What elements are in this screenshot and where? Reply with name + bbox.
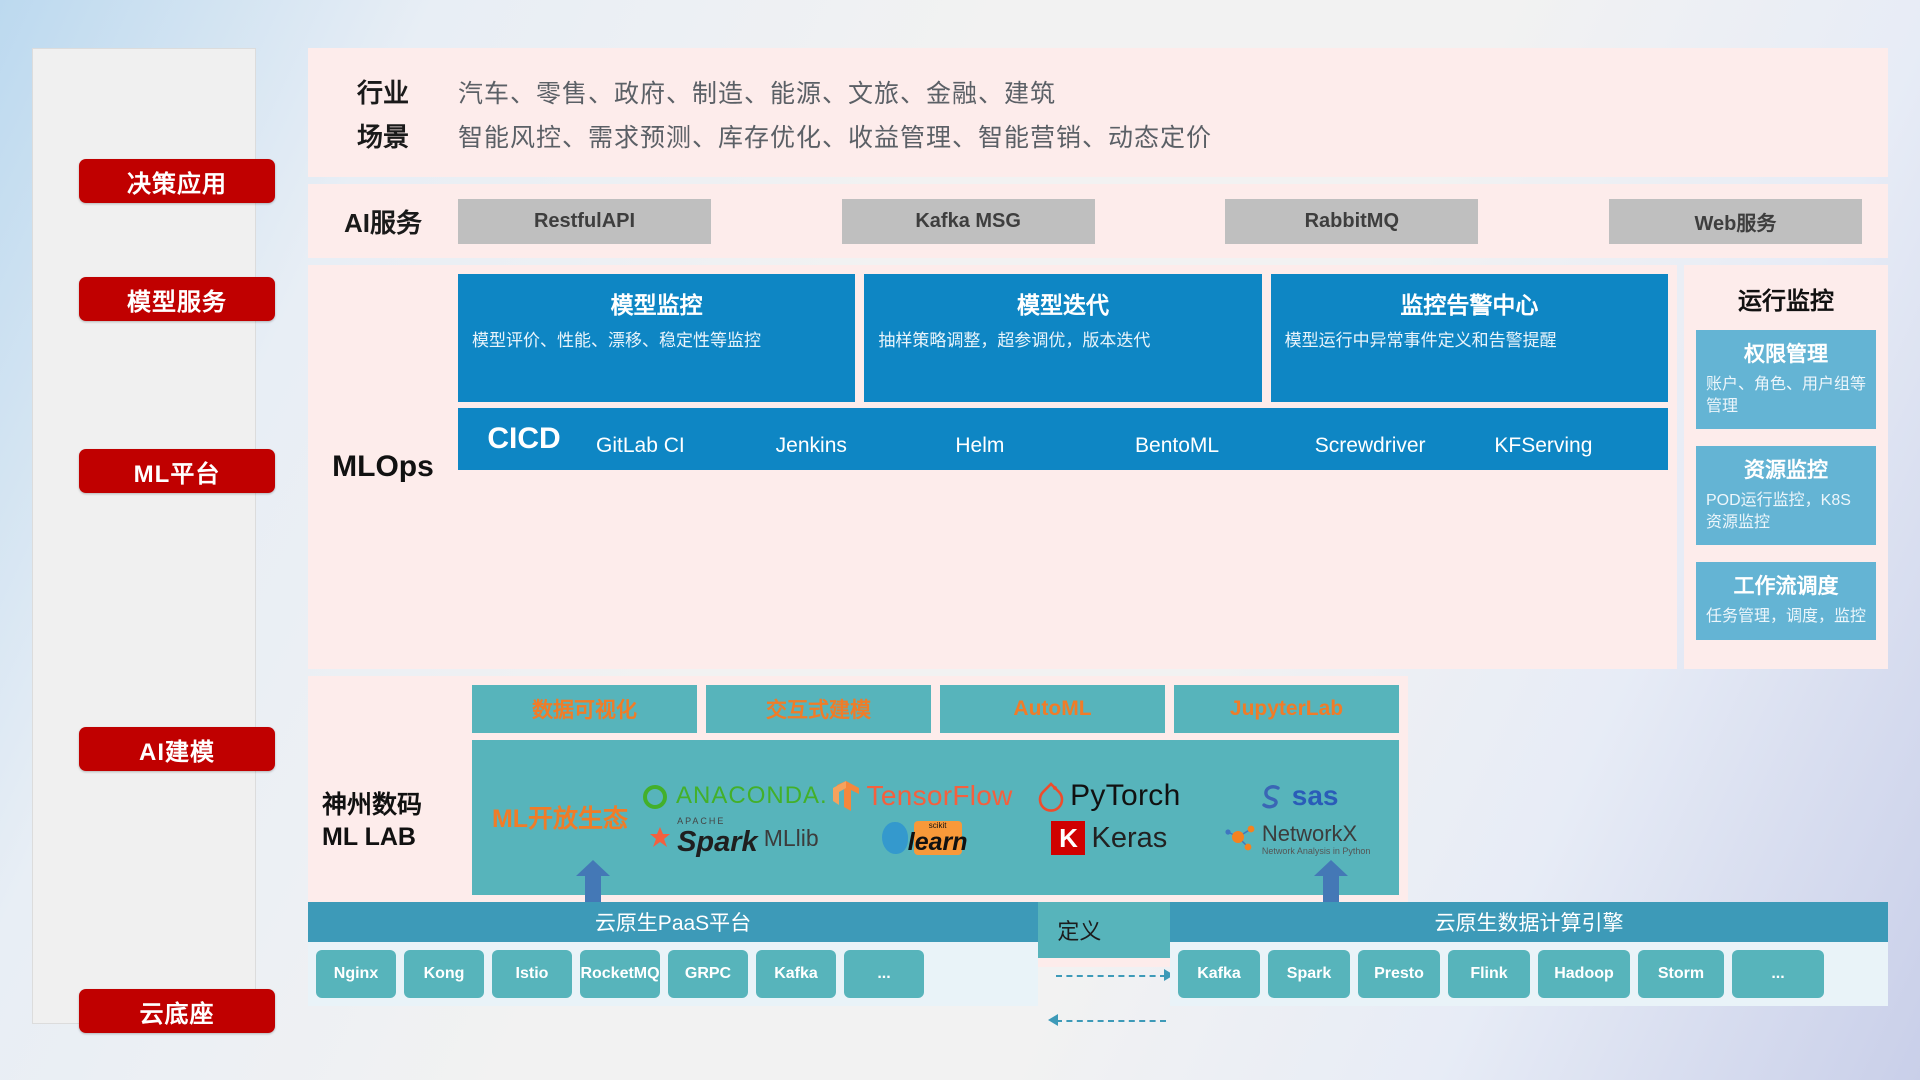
paas-item-nginx[interactable]: Nginx xyxy=(316,950,396,998)
tensorflow-wordmark: TensorFlow xyxy=(867,780,1013,812)
engine-item-more[interactable]: ... xyxy=(1732,950,1824,998)
engine-item-presto[interactable]: Presto xyxy=(1358,950,1440,998)
arrow-up-paas-icon xyxy=(576,860,610,902)
cicd-item-gitlab-ci[interactable]: GitLab CI xyxy=(590,435,770,457)
rail-item-ai-modeling[interactable]: AI建模 xyxy=(79,727,275,771)
ai-service-label: AI服务 xyxy=(308,203,458,240)
keras-k-icon: K xyxy=(1051,821,1085,855)
scikit-learn-logo: scikit learn xyxy=(882,821,962,855)
pytorch-logo: PyTorch xyxy=(1038,779,1180,813)
ops-card-resource[interactable]: 资源监控 POD运行监控，K8S资源监控 xyxy=(1696,446,1876,545)
cicd-item-bentoml[interactable]: BentoML xyxy=(1129,435,1309,457)
anaconda-wordmark: ANACONDA. xyxy=(676,782,828,810)
scenario-label: 场景 xyxy=(308,117,458,154)
sas-mark-icon xyxy=(1256,781,1286,811)
arrow-right-line xyxy=(1056,975,1166,977)
rail-item-model-service[interactable]: 模型服务 xyxy=(79,277,275,321)
scenario-values: 智能风控、需求预测、库存优化、收益管理、智能营销、动态定价 xyxy=(458,118,1212,154)
spark-wordmark: Spark xyxy=(677,826,758,858)
anaconda-logo: ANACONDA. xyxy=(640,781,828,811)
keras-logo: K Keras xyxy=(1051,821,1167,855)
card-title: 监控告警中心 xyxy=(1285,286,1654,320)
card-title: 工作流调度 xyxy=(1706,570,1866,600)
pytorch-flame-icon xyxy=(1038,780,1064,812)
scenario-row: 场景 智能风控、需求预测、库存优化、收益管理、智能营销、动态定价 xyxy=(308,117,1888,154)
paas-item-kafka[interactable]: Kafka xyxy=(756,950,836,998)
engine-item-hadoop[interactable]: Hadoop xyxy=(1538,950,1630,998)
ops-card-workflow[interactable]: 工作流调度 任务管理，调度，监控 xyxy=(1696,562,1876,640)
card-desc: 模型评价、性能、漂移、稳定性等监控 xyxy=(472,329,841,354)
industry-values: 汽车、零售、政府、制造、能源、文旅、金融、建筑 xyxy=(458,74,1056,110)
paas-item-rocketmq[interactable]: RocketMQ xyxy=(580,950,660,998)
paas-item-kong[interactable]: Kong xyxy=(404,950,484,998)
card-desc: 账户、角色、用户组等管理 xyxy=(1706,374,1866,417)
arrow-left-line xyxy=(1056,1020,1166,1022)
rail-item-decision-app[interactable]: 决策应用 xyxy=(79,159,275,203)
cicd-bar: CICD GitLab CI Jenkins Helm BentoML Scre… xyxy=(458,408,1668,470)
ai-service-rabbitmq[interactable]: RabbitMQ xyxy=(1225,199,1478,244)
card-desc: 任务管理，调度，监控 xyxy=(1706,606,1866,628)
architecture-diagram: 决策应用 模型服务 ML平台 AI建模 云底座 行业 汽车、零售、政府、制造、能… xyxy=(0,0,1920,1080)
card-title: 模型迭代 xyxy=(878,286,1247,320)
industry-label: 行业 xyxy=(308,73,458,110)
tool-interactive-modeling[interactable]: 交互式建模 xyxy=(706,685,931,733)
engine-item-kafka[interactable]: Kafka xyxy=(1178,950,1260,998)
ai-service-web[interactable]: Web服务 xyxy=(1609,199,1862,244)
industry-row: 行业 汽车、零售、政府、制造、能源、文旅、金融、建筑 xyxy=(308,73,1888,110)
ops-card-permission[interactable]: 权限管理 账户、角色、用户组等管理 xyxy=(1696,330,1876,429)
data-engine-group: 云原生数据计算引擎 Kafka Spark Presto Flink Hadoo… xyxy=(1170,902,1888,1006)
card-title: 权限管理 xyxy=(1706,338,1866,368)
mllab-label-line2: ML LAB xyxy=(322,821,422,854)
main-stack: 行业 汽车、零售、政府、制造、能源、文旅、金融、建筑 场景 智能风控、需求预测、… xyxy=(308,48,1888,967)
learn-wordmark: learn xyxy=(908,830,968,855)
anaconda-mark-icon xyxy=(640,781,670,811)
arrow-up-data-engine-icon xyxy=(1314,860,1348,902)
data-engine-items: Kafka Spark Presto Flink Hadoop Storm ..… xyxy=(1170,942,1888,1006)
rail-label: 决策应用 xyxy=(127,164,227,199)
cloud-foundation-section: 云原生PaaS平台 Nginx Kong Istio RocketMQ GRPC… xyxy=(308,860,1888,1040)
tool-automl[interactable]: AutoML xyxy=(940,685,1165,733)
rail-label: 云底座 xyxy=(140,994,215,1029)
sas-logo: sas xyxy=(1256,780,1339,812)
mlops-label: MLOps xyxy=(308,274,458,660)
engine-item-flink[interactable]: Flink xyxy=(1448,950,1530,998)
rail-item-ml-platform[interactable]: ML平台 xyxy=(79,449,275,493)
networkx-wordmark-group: NetworkX Network Analysis in Python xyxy=(1262,821,1371,856)
mlops-card-model-monitoring[interactable]: 模型监控 模型评价、性能、漂移、稳定性等监控 xyxy=(458,274,855,402)
rail-label: AI建模 xyxy=(139,732,215,767)
networkx-graph-icon xyxy=(1224,823,1256,853)
mllab-label-line1: 神州数码 xyxy=(322,789,422,822)
keras-wordmark: Keras xyxy=(1091,822,1167,855)
engine-item-storm[interactable]: Storm xyxy=(1638,950,1724,998)
cicd-item-helm[interactable]: Helm xyxy=(949,435,1129,457)
mlops-band: MLOps 模型监控 模型评价、性能、漂移、稳定性等监控 模型迭代 抽样策略调整… xyxy=(308,265,1677,669)
layer-rail: 决策应用 模型服务 ML平台 AI建模 云底座 xyxy=(32,48,256,1024)
mlops-stack: 模型监控 模型评价、性能、漂移、稳定性等监控 模型迭代 抽样策略调整，超参调优，… xyxy=(458,274,1668,660)
paas-items: Nginx Kong Istio RocketMQ GRPC Kafka ... xyxy=(308,942,1038,1006)
card-desc: POD运行监控，K8S资源监控 xyxy=(1706,490,1866,533)
rail-item-cloud-foundation[interactable]: 云底座 xyxy=(79,989,275,1033)
decision-app-band: 行业 汽车、零售、政府、制造、能源、文旅、金融、建筑 场景 智能风控、需求预测、… xyxy=(308,48,1888,177)
card-desc: 模型运行中异常事件定义和告警提醒 xyxy=(1285,329,1654,354)
cicd-label: CICD xyxy=(458,422,590,456)
tool-data-visualization[interactable]: 数据可视化 xyxy=(472,685,697,733)
card-title: 资源监控 xyxy=(1706,454,1866,484)
spark-wordmark-group: APACHE Spark xyxy=(677,817,758,859)
mlops-cards: 模型监控 模型评价、性能、漂移、稳定性等监控 模型迭代 抽样策略调整，超参调优，… xyxy=(458,274,1668,402)
pytorch-wordmark: PyTorch xyxy=(1070,779,1180,813)
ai-service-chips: RestfulAPI Kafka MSG RabbitMQ Web服务 xyxy=(458,199,1888,244)
cicd-items: GitLab CI Jenkins Helm BentoML Screwdriv… xyxy=(590,421,1668,457)
arrow-left-head-icon xyxy=(1048,1014,1058,1026)
apache-wordmark: APACHE xyxy=(677,817,758,826)
ai-service-kafka-msg[interactable]: Kafka MSG xyxy=(842,199,1095,244)
rail-label: ML平台 xyxy=(134,454,221,489)
ml-platform-section: MLOps 模型监控 模型评价、性能、漂移、稳定性等监控 模型迭代 抽样策略调整… xyxy=(308,265,1888,669)
mllib-wordmark: MLlib xyxy=(764,825,819,852)
tensorflow-mark-icon xyxy=(831,779,861,813)
tool-jupyterlab[interactable]: JupyterLab xyxy=(1174,685,1399,733)
ai-service-band: AI服务 RestfulAPI Kafka MSG RabbitMQ Web服务 xyxy=(308,184,1888,258)
paas-item-grpc[interactable]: GRPC xyxy=(668,950,748,998)
engine-item-spark[interactable]: Spark xyxy=(1268,950,1350,998)
cicd-item-jenkins[interactable]: Jenkins xyxy=(770,435,950,457)
scikit-blob-icon xyxy=(882,822,908,854)
paas-group: 云原生PaaS平台 Nginx Kong Istio RocketMQ GRPC… xyxy=(308,902,1038,1006)
ops-monitoring-panel: 运行监控 权限管理 账户、角色、用户组等管理 资源监控 POD运行监控，K8S资… xyxy=(1684,265,1888,669)
card-desc: 抽样策略调整，超参调优，版本迭代 xyxy=(878,329,1247,354)
ml-ecosystem-label: ML开放生态 xyxy=(480,799,640,835)
networkx-logo: NetworkX Network Analysis in Python xyxy=(1224,821,1371,856)
cicd-item-kfserving[interactable]: KFServing xyxy=(1488,435,1668,457)
data-engine-title: 云原生数据计算引擎 xyxy=(1170,902,1888,942)
paas-item-istio[interactable]: Istio xyxy=(492,950,572,998)
mlops-card-model-iteration[interactable]: 模型迭代 抽样策略调整，超参调优，版本迭代 xyxy=(864,274,1261,402)
spark-star-icon xyxy=(649,826,671,850)
sas-wordmark: sas xyxy=(1292,780,1339,812)
ai-service-restfulapi[interactable]: RestfulAPI xyxy=(458,199,711,244)
ml-ecosystem-logos: ANACONDA. TensorFlow xyxy=(640,775,1391,859)
networkx-wordmark: NetworkX xyxy=(1262,821,1357,846)
rail-label: 模型服务 xyxy=(127,282,227,317)
mlops-card-alert-center[interactable]: 监控告警中心 模型运行中异常事件定义和告警提醒 xyxy=(1271,274,1668,402)
scikit-badge-icon: scikit learn xyxy=(914,821,962,855)
networkx-tagline: Network Analysis in Python xyxy=(1262,847,1371,856)
card-title: 模型监控 xyxy=(472,286,841,320)
tensorflow-logo: TensorFlow xyxy=(831,779,1013,813)
paas-item-more[interactable]: ... xyxy=(844,950,924,998)
cicd-item-screwdriver[interactable]: Screwdriver xyxy=(1309,435,1489,457)
paas-title: 云原生PaaS平台 xyxy=(308,902,1038,942)
mllab-tools: 数据可视化 交互式建模 AutoML JupyterLab xyxy=(472,685,1399,733)
spark-mllib-logo: APACHE Spark MLlib xyxy=(649,817,819,859)
ops-panel-title: 运行监控 xyxy=(1696,281,1876,316)
